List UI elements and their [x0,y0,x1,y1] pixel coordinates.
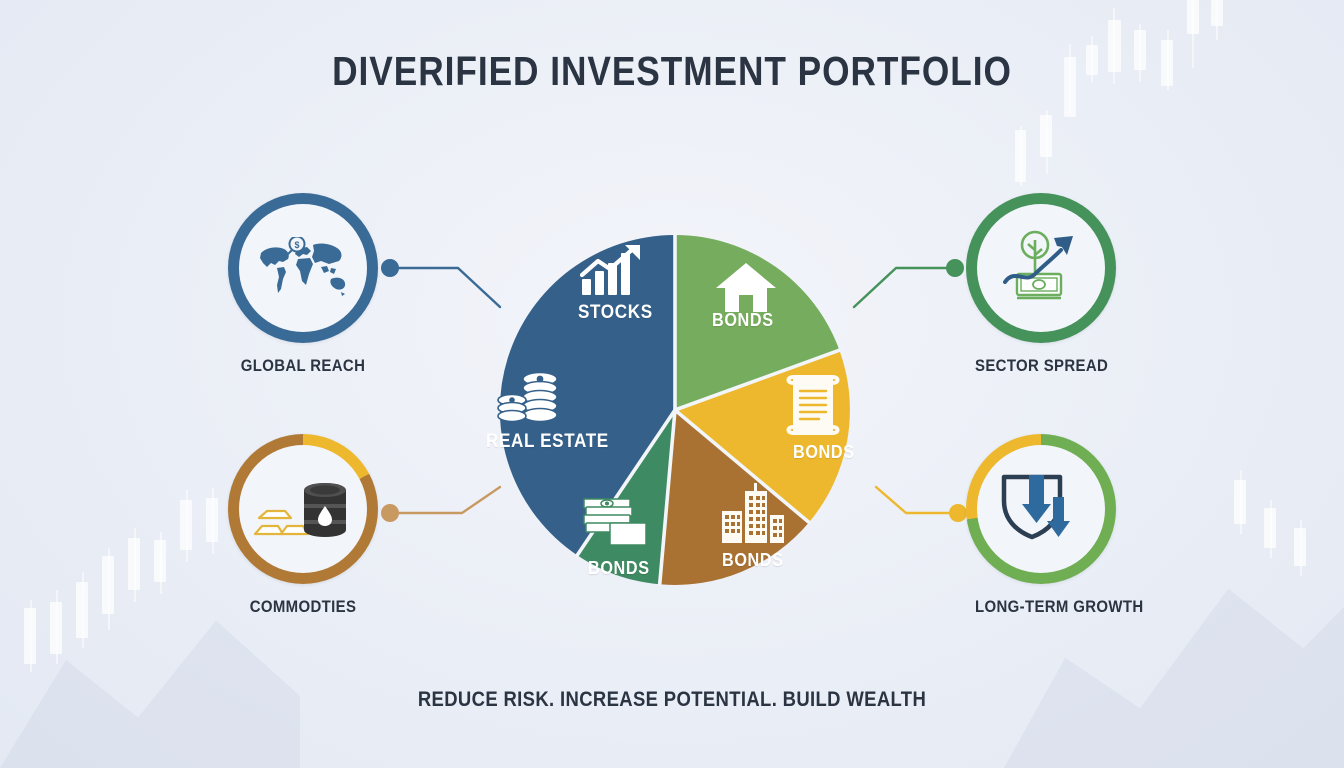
oil-barrel-gold-bars-icon [228,434,378,584]
candle-wick [160,532,162,594]
candle-wick [1270,500,1272,558]
page-title: DIVERIFIED INVESTMENT PORTFOLIO [94,48,1250,95]
candle-wick [186,490,188,562]
candle-body [1294,528,1306,566]
candle-body [128,538,140,590]
candle-body [50,602,62,654]
candle-body [24,608,36,664]
badge-label-commodties: COMMODTIES [237,597,369,617]
badge-ring [228,434,378,584]
badge-ring [966,434,1116,584]
infographic-canvas: DIVERIFIED INVESTMENT PORTFOLIO [0,0,1344,768]
badge-global-reach[interactable]: $ GLOBAL REACH [228,193,378,376]
candle-wick [1300,520,1302,576]
candle-body [1234,480,1246,524]
pie-label-bonds-cash: BONDS [588,558,650,579]
candle-body [206,498,218,542]
pie-label-stocks: STOCKS [578,302,653,324]
world-map-icon: $ [228,193,378,343]
pie-label-bonds-buildings: BONDS [722,550,784,571]
badge-label-long-term-growth: LONG-TERM GROWTH [975,597,1107,617]
svg-text:$: $ [294,240,299,250]
candle-body [154,540,166,582]
pie-label-bonds-house: BONDS [712,310,774,331]
candle-wick [1216,0,1218,40]
coin-stack-icon [496,370,564,426]
candle-body [102,556,114,614]
house-icon [715,261,777,315]
badge-label-global-reach: GLOBAL REACH [237,356,369,376]
candle-wick [30,600,32,672]
candle-body [1015,130,1026,182]
connector-sector-spread [854,259,964,307]
candle-wick [108,548,110,630]
candle-wick [134,528,136,602]
connector-global-reach [381,259,500,307]
connector-commodties [381,487,500,522]
candle-wick [1240,470,1242,534]
badge-long-term-growth[interactable]: LONG-TERM GROWTH [966,434,1116,617]
badge-commodties[interactable]: COMMODTIES [228,434,378,617]
city-buildings-icon [718,483,786,545]
bar-chart-growth-icon [580,245,650,297]
badge-ring [966,193,1116,343]
candle-body [76,582,88,638]
candle-wick [1046,110,1048,174]
candle-wick [56,590,58,664]
candle-wick [212,488,214,554]
pie-label-bonds-certificate: BONDS [793,442,855,463]
candle-body [1264,508,1276,548]
tagline: REDUCE RISK. INCREASE POTENTIAL. BUILD W… [81,688,1264,712]
pie-label-real-estate: REAL ESTATE [486,431,609,453]
candle-body [1211,0,1223,26]
candle-wick [82,572,84,648]
cash-stack-icon [582,495,652,547]
candle-wick [1020,126,1022,186]
portfolio-pie-chart: STOCKS REAL ESTATE [490,225,860,595]
scroll-certificate-icon [785,375,841,435]
candle-body [180,500,192,550]
badge-sector-spread[interactable]: SECTOR SPREAD [966,193,1116,376]
shield-down-arrows-icon [966,434,1116,584]
badge-ring: $ [228,193,378,343]
candle-body [1187,0,1199,34]
badge-label-sector-spread: SECTOR SPREAD [975,356,1107,376]
candle-body [1040,115,1052,157]
connector-long-term-growth [876,487,967,522]
money-tree-growth-arrow-icon [966,193,1116,343]
